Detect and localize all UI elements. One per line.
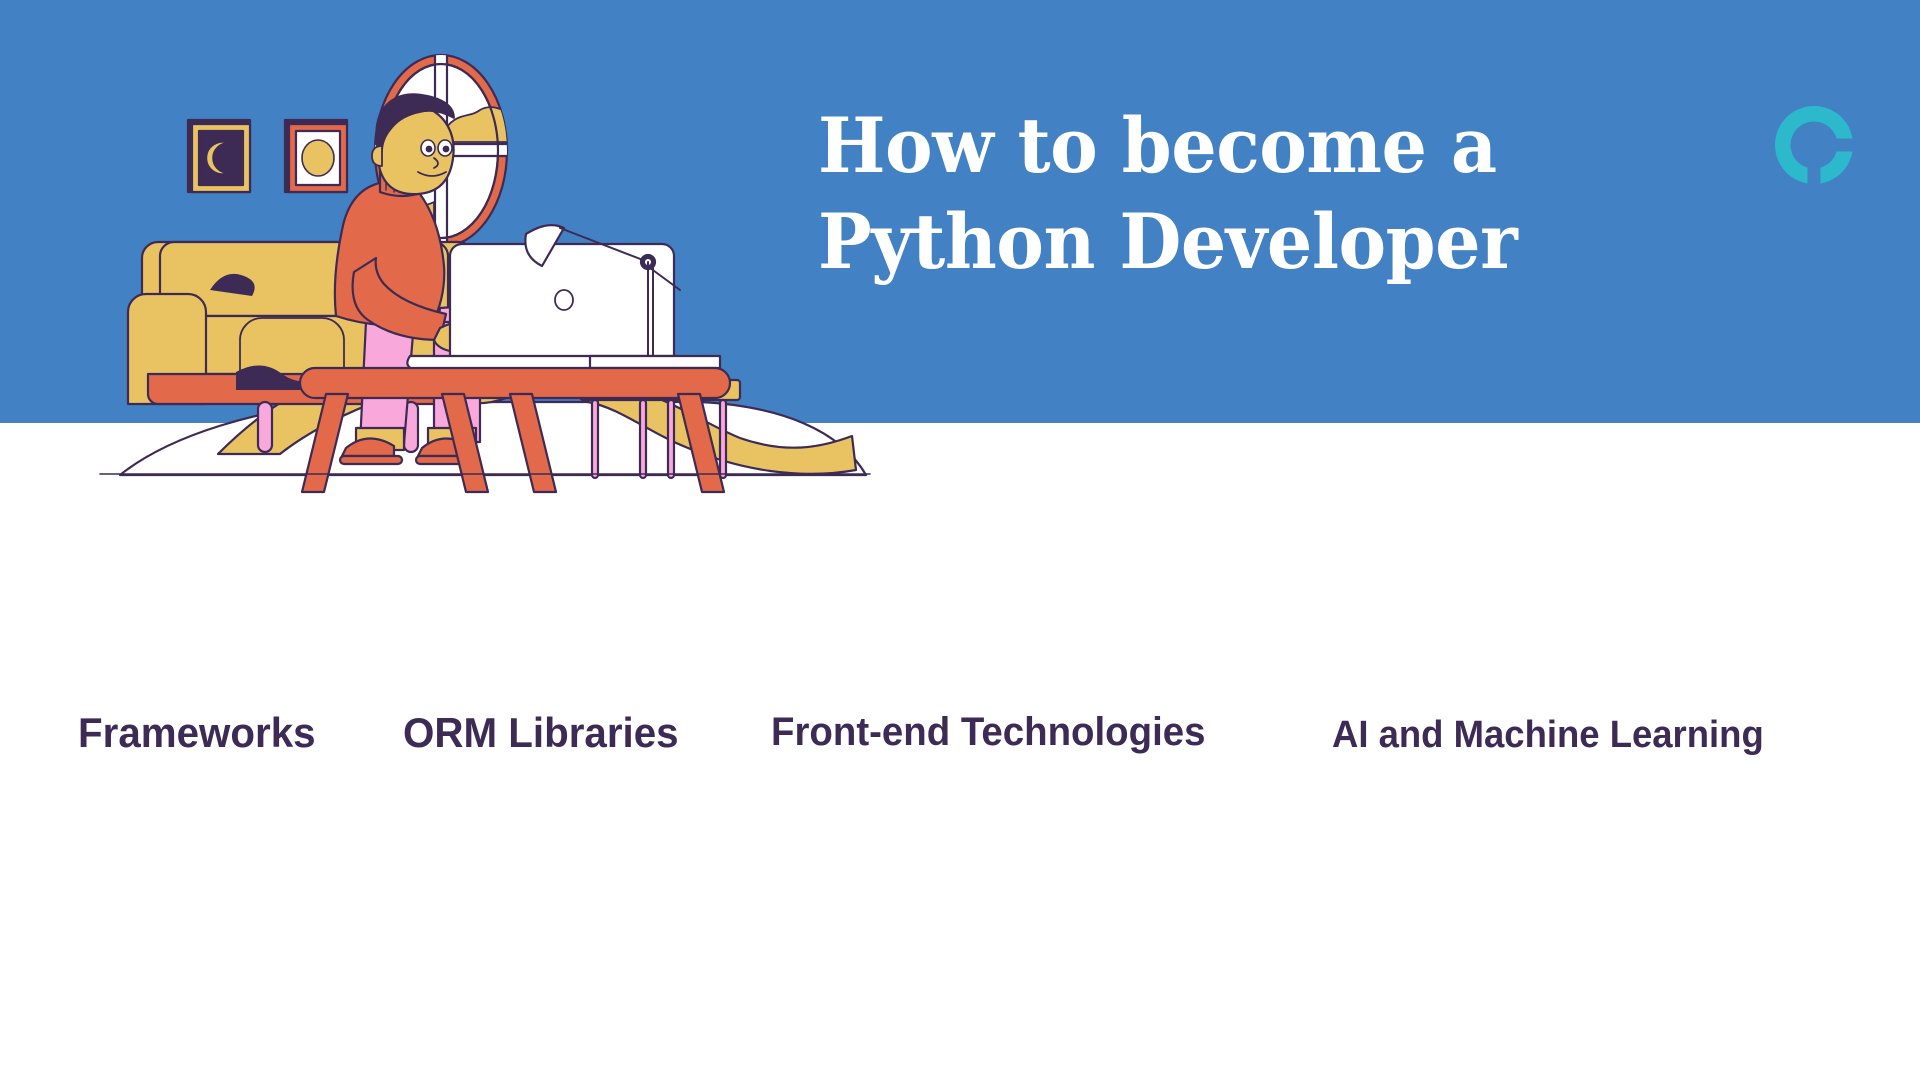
side-table-leg — [668, 400, 674, 478]
stack-of-books — [590, 356, 720, 368]
framed-sun-picture — [285, 120, 347, 192]
topic-label-ai-and-machine-learning[interactable]: AI and Machine Learning — [1332, 714, 1764, 757]
topic-label-front-end-technologies[interactable]: Front-end Technologies — [771, 710, 1205, 755]
framed-moon-picture — [188, 120, 250, 192]
topic-label-frameworks[interactable]: Frameworks — [78, 709, 316, 757]
side-table-leg — [720, 400, 726, 478]
topics-row: Frameworks ORM Libraries Front-end Techn… — [0, 700, 1920, 770]
sofa-leg — [258, 402, 272, 452]
side-table-leg — [592, 400, 598, 478]
page-title: How to become a Python Developer — [818, 98, 1598, 290]
slide-root: How to become a Python Developer Framewo… — [0, 0, 1920, 1080]
hero-illustration — [140, 50, 870, 490]
side-table-leg — [640, 400, 646, 478]
topic-label-orm-libraries[interactable]: ORM Libraries — [403, 709, 679, 757]
circular-c-logo-icon — [1775, 106, 1855, 186]
brand-logo[interactable] — [1773, 104, 1855, 186]
